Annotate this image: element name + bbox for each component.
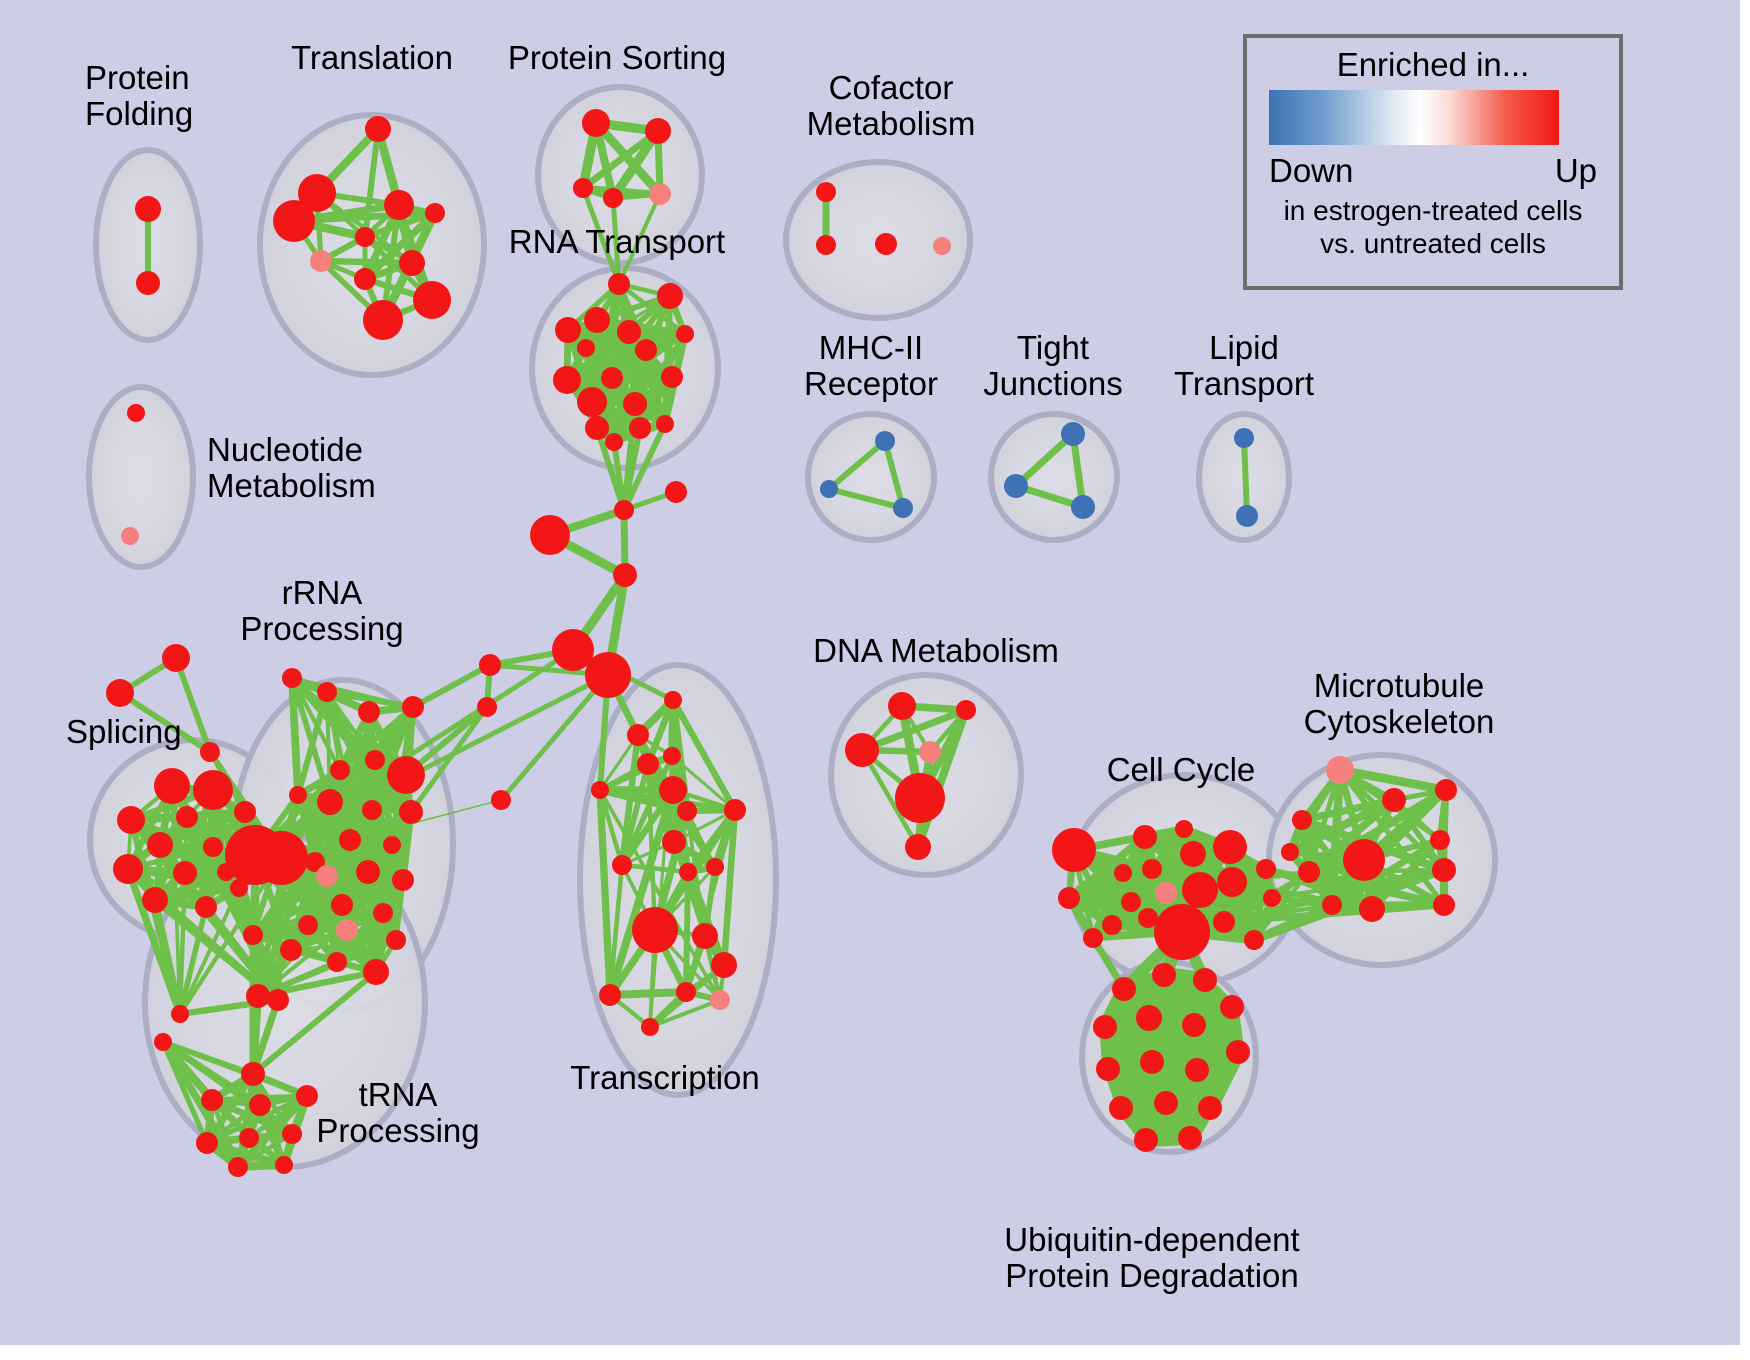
- network-node-up: [530, 515, 570, 555]
- network-node-up: [1343, 839, 1385, 881]
- network-node-up: [649, 183, 671, 205]
- network-node-up: [1217, 867, 1247, 897]
- network-node-up: [201, 1089, 223, 1111]
- network-node-down: [1071, 495, 1095, 519]
- network-node-up: [645, 118, 671, 144]
- cluster-label-rna-transport: RNA Transport: [509, 224, 725, 260]
- cluster-label-mhc-ii-receptor: MHC-II Receptor: [804, 330, 938, 403]
- network-node-up: [171, 1005, 189, 1023]
- network-node-up: [663, 747, 681, 765]
- network-node-up: [845, 733, 879, 767]
- network-node-up: [1382, 788, 1406, 812]
- network-node-up: [289, 786, 307, 804]
- network-node-up: [1432, 858, 1456, 882]
- network-node-up: [267, 989, 289, 1011]
- network-node-up: [1292, 810, 1312, 830]
- network-node-up: [710, 990, 730, 1010]
- network-node-up: [477, 697, 497, 717]
- network-node-up: [664, 691, 682, 709]
- network-node-up: [1154, 1091, 1178, 1115]
- cluster-label-cofactor-metabolism: Cofactor Metabolism: [807, 70, 976, 143]
- network-node-up: [632, 907, 678, 953]
- network-node-up: [1102, 915, 1122, 935]
- network-node-down: [1234, 428, 1254, 448]
- network-node-up: [1433, 894, 1455, 916]
- network-node-up: [1430, 830, 1450, 850]
- network-node-up: [692, 923, 718, 949]
- network-node-up: [679, 863, 697, 881]
- network-node-up: [365, 116, 391, 142]
- network-edge: [1244, 438, 1247, 516]
- network-node-up: [195, 896, 217, 918]
- network-node-up: [1134, 1128, 1158, 1152]
- network-node-up: [399, 250, 425, 276]
- network-node-up: [585, 652, 631, 698]
- network-node-up: [553, 366, 581, 394]
- legend-up-label: Up: [1555, 152, 1597, 190]
- network-node-up: [1326, 756, 1354, 784]
- cluster-label-dna-metabolism: DNA Metabolism: [813, 633, 1059, 669]
- network-node-up: [355, 227, 375, 247]
- legend-caption-line2: vs. untreated cells: [1269, 227, 1597, 260]
- network-node-up: [330, 760, 350, 780]
- cluster-label-protein-folding: Protein Folding: [85, 60, 193, 133]
- network-node-up: [127, 404, 145, 422]
- legend-colorbar: [1269, 90, 1559, 145]
- cluster-label-trna-processing: tRNA Processing: [316, 1077, 479, 1150]
- network-node-up: [577, 339, 595, 357]
- network-node-up: [402, 696, 424, 718]
- network-node-up: [599, 984, 621, 1006]
- network-node-up: [392, 869, 414, 891]
- network-node-up: [1140, 1050, 1164, 1074]
- network-node-up: [298, 915, 318, 935]
- network-node-up: [1058, 887, 1080, 909]
- network-node-up: [1198, 1096, 1222, 1120]
- network-node-up: [1136, 1005, 1162, 1031]
- network-node-up: [603, 188, 623, 208]
- network-node-up: [1281, 843, 1299, 861]
- network-node-up: [282, 1124, 302, 1144]
- network-node-up: [629, 417, 651, 439]
- network-node-up: [659, 776, 687, 804]
- network-node-up: [617, 320, 641, 344]
- cluster-label-splicing: Splicing: [66, 714, 182, 750]
- network-node-up: [933, 237, 951, 255]
- network-node-up: [135, 196, 161, 222]
- network-node-up: [243, 925, 263, 945]
- network-node-up: [1052, 828, 1096, 872]
- network-node-up: [491, 790, 511, 810]
- network-node-up: [582, 109, 610, 137]
- network-node-up: [1226, 1040, 1250, 1064]
- network-node-up: [193, 770, 233, 810]
- network-node-down: [893, 498, 913, 518]
- network-node-down: [1061, 422, 1085, 446]
- legend-down-label: Down: [1269, 152, 1353, 190]
- network-node-up: [1263, 889, 1281, 907]
- network-node-up: [875, 233, 897, 255]
- network-node-up: [317, 682, 337, 702]
- network-node-up: [386, 930, 406, 950]
- network-node-up: [200, 742, 220, 762]
- network-node-up: [316, 865, 338, 887]
- network-node-up: [173, 861, 197, 885]
- network-node-up: [479, 654, 501, 676]
- cluster-label-rrna-processing: rRNA Processing: [240, 575, 403, 648]
- network-node-up: [706, 858, 724, 876]
- cluster-hull-mhc-ii-receptor: [808, 414, 934, 540]
- network-node-up: [196, 1132, 218, 1154]
- network-node-up: [383, 836, 401, 854]
- network-node-up: [234, 801, 256, 823]
- network-node-up: [363, 300, 403, 340]
- network-node-up: [142, 887, 168, 913]
- network-node-up: [317, 789, 343, 815]
- network-node-up: [816, 235, 836, 255]
- network-node-up: [641, 1018, 659, 1036]
- network-node-up: [1154, 904, 1210, 960]
- network-node-up: [113, 854, 143, 884]
- network-node-up: [356, 860, 380, 884]
- network-edge: [610, 992, 686, 995]
- network-node-up: [585, 416, 609, 440]
- network-node-up: [1185, 1058, 1209, 1082]
- network-node-up: [919, 741, 941, 763]
- network-node-up: [154, 768, 190, 804]
- network-node-up: [1193, 968, 1217, 992]
- network-node-up: [1180, 841, 1206, 867]
- cluster-label-microtubule-cytoskeleton: Microtubule Cytoskeleton: [1304, 668, 1495, 741]
- network-node-up: [365, 750, 385, 770]
- network-node-down: [1004, 474, 1028, 498]
- network-node-up: [1359, 896, 1385, 922]
- network-node-up: [605, 433, 623, 451]
- network-node-up: [555, 317, 581, 343]
- legend-title: Enriched in...: [1269, 46, 1597, 84]
- network-node-up: [354, 268, 376, 290]
- network-node-up: [1298, 861, 1320, 883]
- network-node-up: [895, 773, 945, 823]
- cluster-label-tight-junctions: Tight Junctions: [983, 330, 1122, 403]
- network-node-up: [1213, 911, 1235, 933]
- network-node-up: [384, 190, 414, 220]
- network-node-up: [1178, 1126, 1202, 1150]
- network-node-up: [1096, 1057, 1120, 1081]
- network-node-up: [1256, 859, 1276, 879]
- network-node-up: [623, 392, 647, 416]
- cluster-label-lipid-transport: Lipid Transport: [1174, 330, 1314, 403]
- network-node-up: [1213, 830, 1247, 864]
- network-edge: [321, 261, 412, 263]
- network-node-up: [121, 527, 139, 545]
- network-node-up: [724, 799, 746, 821]
- network-node-up: [228, 1157, 248, 1177]
- network-node-up: [399, 800, 423, 824]
- network-node-up: [613, 563, 637, 587]
- network-node-up: [117, 806, 145, 834]
- network-node-up: [203, 837, 223, 857]
- network-node-up: [1109, 1096, 1133, 1120]
- legend-box: Enriched in... Down Up in estrogen-treat…: [1243, 34, 1623, 290]
- network-node-up: [665, 481, 687, 503]
- network-node-up: [147, 832, 173, 858]
- network-node-up: [249, 1094, 271, 1116]
- network-node-up: [657, 283, 683, 309]
- network-node-up: [1152, 963, 1176, 987]
- network-node-up: [387, 756, 425, 794]
- cluster-label-nucleotide-metabolism: Nucleotide Metabolism: [207, 432, 376, 505]
- network-node-up: [591, 781, 609, 799]
- network-edge: [686, 872, 688, 992]
- network-node-up: [637, 753, 659, 775]
- network-node-up: [1244, 930, 1264, 950]
- network-node-up: [711, 952, 737, 978]
- cluster-label-cell-cycle: Cell Cycle: [1107, 752, 1256, 788]
- network-node-up: [1182, 872, 1218, 908]
- network-node-up: [1112, 977, 1136, 1001]
- network-node-down: [1236, 505, 1258, 527]
- network-node-up: [816, 182, 836, 202]
- network-node-up: [656, 415, 674, 433]
- network-node-up: [327, 952, 347, 972]
- network-node-up: [241, 1062, 265, 1086]
- network-node-up: [1322, 895, 1342, 915]
- network-node-up: [601, 367, 623, 389]
- network-node-up: [358, 701, 380, 723]
- network-node-up: [310, 250, 332, 272]
- cluster-label-transcription: Transcription: [570, 1060, 760, 1096]
- network-node-up: [676, 982, 696, 1002]
- network-node-up: [154, 1033, 172, 1051]
- network-node-up: [162, 644, 190, 672]
- network-node-up: [339, 829, 361, 851]
- network-node-up: [331, 894, 353, 916]
- network-node-up: [635, 339, 657, 361]
- network-node-up: [1114, 864, 1132, 882]
- network-node-up: [956, 700, 976, 720]
- network-node-up: [1435, 779, 1457, 801]
- network-node-up: [661, 366, 683, 388]
- network-node-up: [1121, 892, 1141, 912]
- network-node-up: [425, 203, 445, 223]
- network-node-up: [888, 692, 916, 720]
- network-node-up: [239, 1128, 259, 1148]
- network-node-up: [246, 984, 270, 1008]
- network-node-up: [275, 1156, 293, 1174]
- network-node-up: [676, 325, 694, 343]
- network-node-up: [662, 830, 686, 854]
- legend-caption-line1: in estrogen-treated cells: [1269, 194, 1597, 227]
- network-node-up: [614, 500, 634, 520]
- network-node-up: [336, 919, 358, 941]
- network-node-up: [1142, 859, 1162, 879]
- cluster-label-protein-sorting: Protein Sorting: [508, 40, 726, 76]
- network-node-up: [905, 834, 931, 860]
- network-figure: Enriched in... Down Up in estrogen-treat…: [0, 0, 1750, 1360]
- network-node-up: [373, 903, 393, 923]
- network-node-up: [608, 273, 630, 295]
- network-node-up: [176, 806, 198, 828]
- network-node-up: [573, 178, 593, 198]
- network-node-up: [1175, 820, 1193, 838]
- network-node-up: [1155, 882, 1177, 904]
- network-node-down: [875, 431, 895, 451]
- network-node-up: [363, 959, 389, 985]
- network-node-up: [362, 800, 382, 820]
- network-node-up: [612, 855, 632, 875]
- network-node-up: [136, 271, 160, 295]
- network-node-up: [225, 825, 285, 885]
- network-node-up: [577, 387, 607, 417]
- network-node-up: [413, 281, 451, 319]
- network-node-up: [273, 200, 315, 242]
- network-node-up: [296, 1085, 318, 1107]
- network-node-up: [677, 801, 697, 821]
- network-node-up: [1083, 928, 1103, 948]
- cluster-label-translation: Translation: [291, 40, 453, 76]
- network-node-down: [820, 480, 838, 498]
- network-node-up: [627, 724, 649, 746]
- network-node-up: [282, 668, 302, 688]
- network-node-up: [1182, 1013, 1206, 1037]
- network-node-up: [1093, 1015, 1117, 1039]
- network-node-up: [1133, 825, 1157, 849]
- cluster-label-ubiquitin-degradation: Ubiquitin-dependent Protein Degradation: [1004, 1222, 1299, 1295]
- network-node-up: [584, 307, 610, 333]
- network-node-up: [106, 679, 134, 707]
- network-node-up: [280, 939, 302, 961]
- network-node-up: [1220, 995, 1244, 1019]
